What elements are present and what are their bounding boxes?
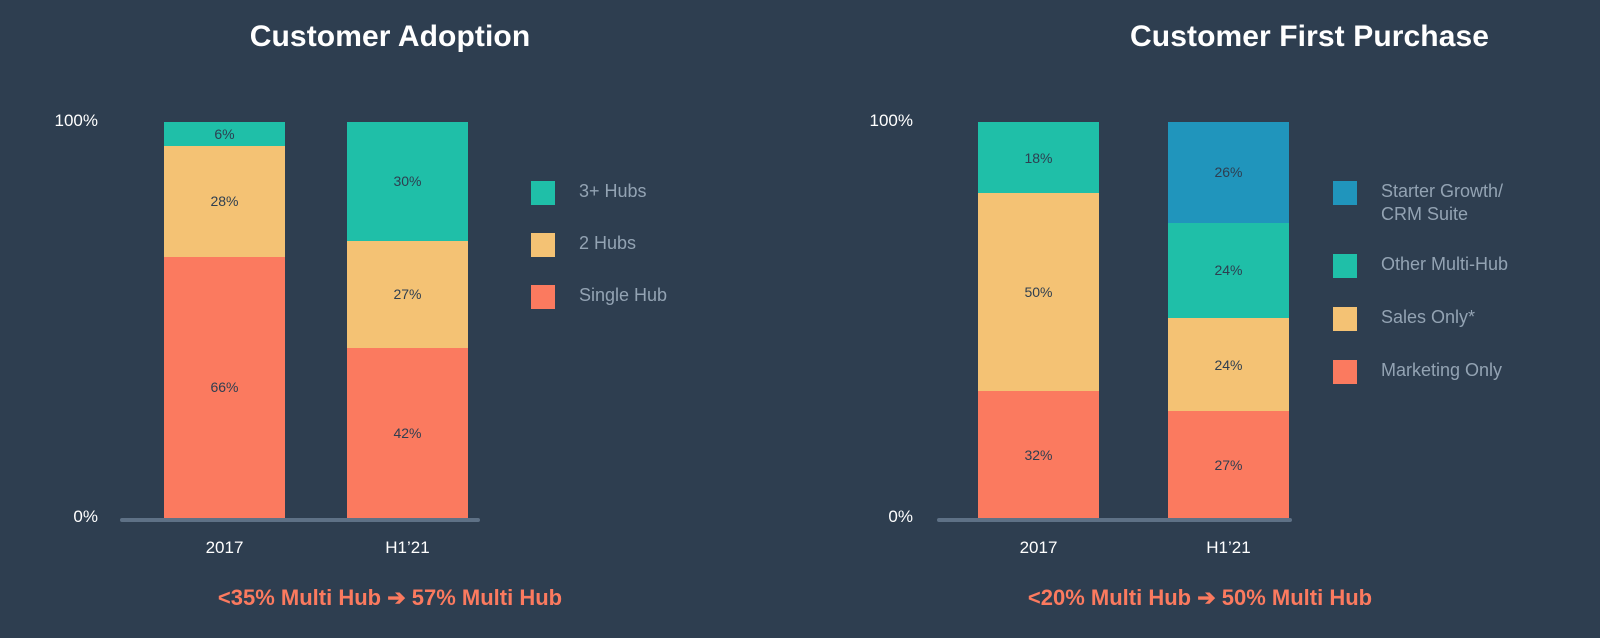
- y-axis-label-bottom: 0%: [888, 507, 913, 527]
- legend-swatch-icon: [1333, 181, 1357, 205]
- bar-segment-single-hub[interactable]: 42%: [347, 348, 468, 518]
- bar-segment-sales-only[interactable]: 50%: [978, 193, 1099, 391]
- chart-title-customer-adoption: Customer Adoption: [0, 20, 790, 54]
- bar-segment-value: 50%: [1024, 285, 1052, 299]
- legend-item-label: 2 Hubs: [579, 232, 636, 255]
- bar-segment-value: 66%: [210, 380, 238, 394]
- legend-swatch-icon: [1333, 360, 1357, 384]
- bar-segment-3plus-hubs[interactable]: 6%: [164, 122, 285, 146]
- bar-segment-2-hubs[interactable]: 28%: [164, 146, 285, 257]
- bar-segment-sales-only[interactable]: 24%: [1168, 318, 1289, 411]
- x-axis-tick-2017: 2017: [164, 538, 285, 558]
- stacked-bar-h1-21[interactable]: 30% 27% 42%: [347, 122, 468, 518]
- bar-segment-value: 26%: [1214, 165, 1242, 179]
- bar-segment-3plus-hubs[interactable]: 30%: [347, 122, 468, 241]
- bar-segment-starter-growth-crm-suite[interactable]: 26%: [1168, 122, 1289, 223]
- bar-segment-value: 6%: [214, 127, 234, 141]
- bar-segment-2-hubs[interactable]: 27%: [347, 241, 468, 348]
- bar-segment-value: 32%: [1024, 448, 1052, 462]
- bar-segment-value: 27%: [393, 287, 421, 301]
- legend-item-sales-only[interactable]: Sales Only*: [1333, 306, 1508, 331]
- x-axis-tick-2017: 2017: [978, 538, 1099, 558]
- bar-segment-value: 28%: [210, 194, 238, 208]
- bar-segment-value: 27%: [1214, 458, 1242, 472]
- chart-panel-customer-adoption: Customer Adoption 100% 0% 6% 28% 66%: [0, 0, 800, 638]
- legend-swatch-icon: [1333, 307, 1357, 331]
- bar-segment-value: 42%: [393, 426, 421, 440]
- chart-title-customer-first-purchase: Customer First Purchase: [1130, 20, 1530, 54]
- legend-item-label: Other Multi-Hub: [1381, 253, 1508, 276]
- chart-caption-customer-adoption: <35% Multi Hub ➔ 57% Multi Hub: [0, 585, 790, 611]
- legend-item-label: 3+ Hubs: [579, 180, 647, 203]
- x-axis-tick-h1-21: H1’21: [347, 538, 468, 558]
- bar-segment-single-hub[interactable]: 66%: [164, 257, 285, 518]
- legend-item-other-multi-hub[interactable]: Other Multi-Hub: [1333, 253, 1508, 278]
- y-axis-label-top: 100%: [870, 111, 913, 131]
- y-axis-label-top: 100%: [55, 111, 98, 131]
- legend-item-label: Starter Growth/ CRM Suite: [1381, 180, 1503, 225]
- legend-item-2-hubs[interactable]: 2 Hubs: [531, 232, 667, 257]
- legend-item-marketing-only[interactable]: Marketing Only: [1333, 359, 1508, 384]
- bar-segment-value: 24%: [1214, 358, 1242, 372]
- x-axis-line: [120, 518, 480, 522]
- slide-canvas: Customer Adoption 100% 0% 6% 28% 66%: [0, 0, 1600, 638]
- y-axis-label-bottom: 0%: [73, 507, 98, 527]
- bar-segment-other-multi-hub[interactable]: 18%: [978, 122, 1099, 193]
- legend-item-3plus-hubs[interactable]: 3+ Hubs: [531, 180, 667, 205]
- stacked-bar-2017[interactable]: 18% 50% 32%: [978, 122, 1099, 518]
- stacked-bar-h1-21[interactable]: 26% 24% 24% 27%: [1168, 122, 1289, 518]
- bar-segment-value: 24%: [1214, 263, 1242, 277]
- legend-item-label: Marketing Only: [1381, 359, 1502, 382]
- legend-swatch-icon: [1333, 254, 1357, 278]
- plot-area-customer-adoption: 100% 0% 6% 28% 66% 30%: [120, 122, 520, 518]
- legend-item-label: Sales Only*: [1381, 306, 1475, 329]
- bar-segment-value: 30%: [393, 174, 421, 188]
- chart-panel-customer-first-purchase: Customer First Purchase 100% 0% 18% 50% …: [800, 0, 1600, 638]
- bar-segment-value: 18%: [1024, 151, 1052, 165]
- legend-customer-adoption: 3+ Hubs 2 Hubs Single Hub: [531, 180, 667, 336]
- legend-item-starter-growth-crm-suite[interactable]: Starter Growth/ CRM Suite: [1333, 180, 1508, 225]
- chart-caption-customer-first-purchase: <20% Multi Hub ➔ 50% Multi Hub: [800, 585, 1600, 611]
- plot-area-customer-first-purchase: 100% 0% 18% 50% 32% 26%: [935, 122, 1335, 518]
- legend-item-label: Single Hub: [579, 284, 667, 307]
- stacked-bar-2017[interactable]: 6% 28% 66%: [164, 122, 285, 518]
- x-axis-tick-h1-21: H1’21: [1168, 538, 1289, 558]
- bar-segment-other-multi-hub[interactable]: 24%: [1168, 223, 1289, 318]
- legend-swatch-icon: [531, 285, 555, 309]
- x-axis-line: [937, 518, 1292, 522]
- legend-swatch-icon: [531, 181, 555, 205]
- legend-customer-first-purchase: Starter Growth/ CRM Suite Other Multi-Hu…: [1333, 180, 1508, 412]
- bar-segment-marketing-only[interactable]: 27%: [1168, 411, 1289, 518]
- bar-segment-marketing-only[interactable]: 32%: [978, 391, 1099, 518]
- legend-swatch-icon: [531, 233, 555, 257]
- legend-item-single-hub[interactable]: Single Hub: [531, 284, 667, 309]
